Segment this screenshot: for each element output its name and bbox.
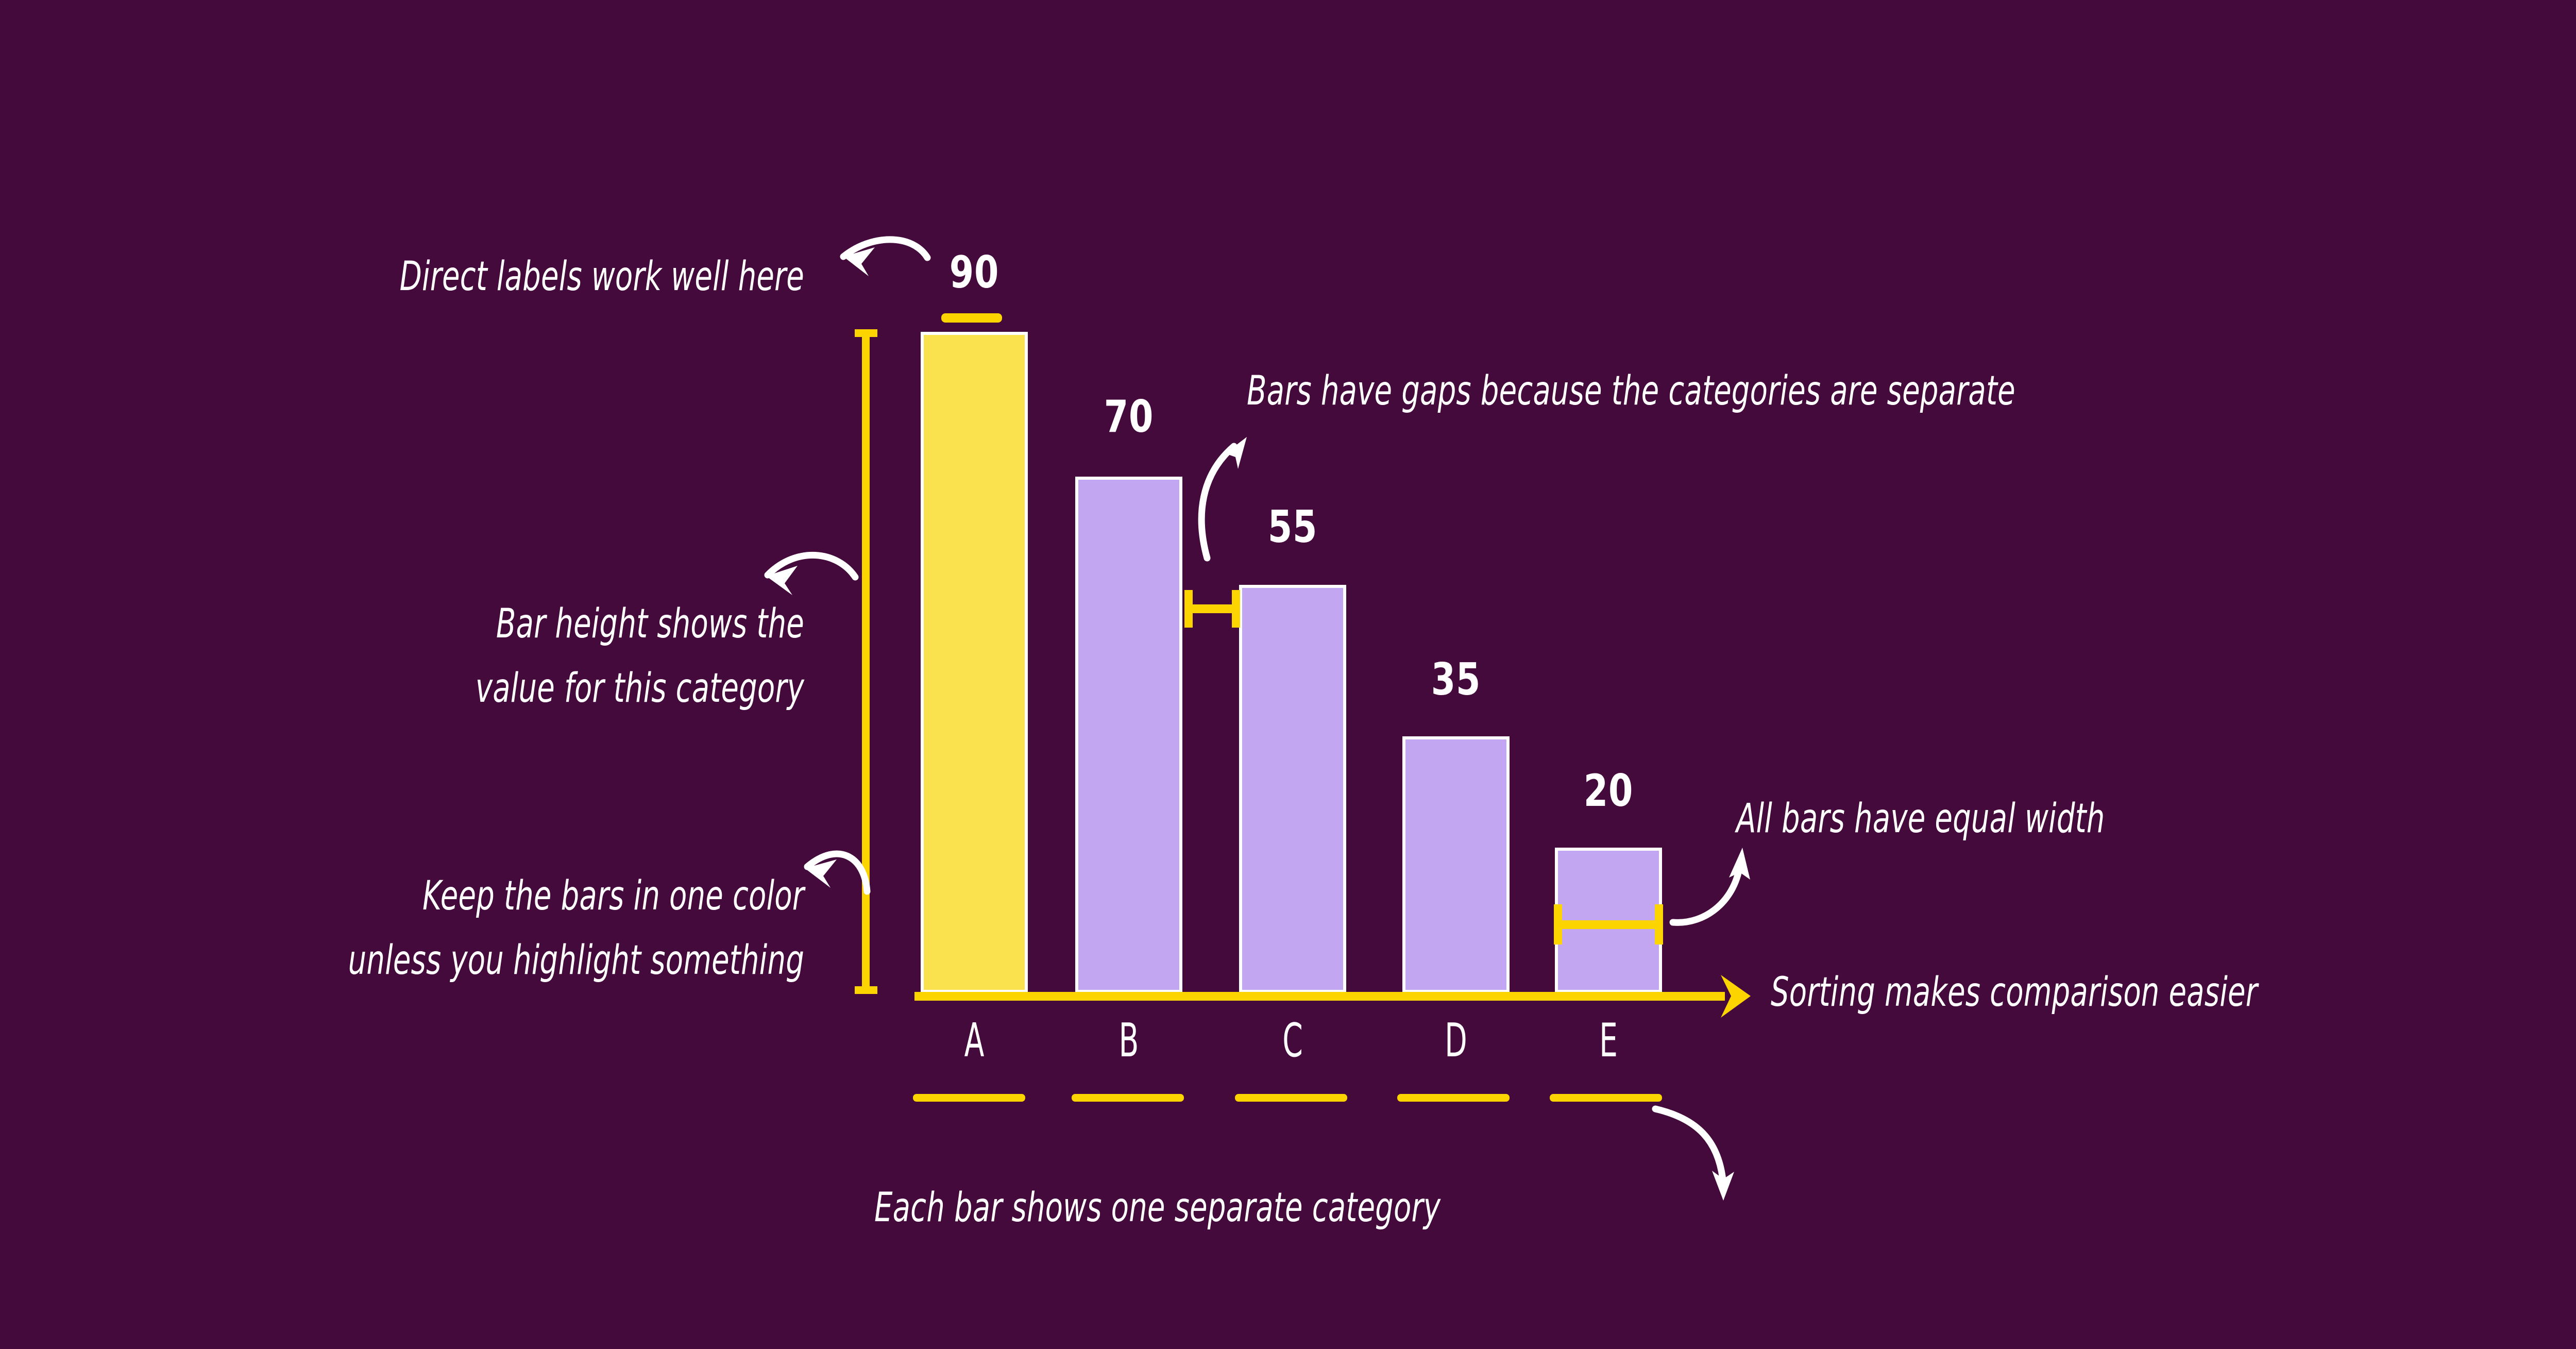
value-label-B: 70 <box>1083 395 1174 439</box>
gap-marker-cap-left <box>1184 590 1193 628</box>
annotation-equal-width: All bars have equal width <box>1736 794 2561 845</box>
annotation-one-color-line2: unless you highlight something <box>186 935 804 987</box>
arrow-equal-width <box>1673 848 1750 922</box>
category-underline-D <box>1397 1094 1510 1102</box>
annotation-bars-have-gaps: Bars have gaps because the categories ar… <box>1247 366 2566 417</box>
value-label-underline-A <box>941 313 1002 323</box>
category-underline-C <box>1235 1094 1347 1102</box>
x-axis-arrowhead <box>1721 975 1751 1018</box>
category-label-A: A <box>938 1018 1010 1064</box>
category-label-E: E <box>1572 1018 1645 1064</box>
category-label-B: B <box>1093 1018 1165 1064</box>
value-label-C: 55 <box>1247 505 1338 549</box>
category-label-C: C <box>1257 1018 1329 1064</box>
gap-marker-cap-right <box>1232 590 1240 628</box>
bar-C <box>1239 585 1346 993</box>
category-underline-E <box>1550 1094 1662 1102</box>
category-underline-A <box>913 1094 1025 1102</box>
annotation-one-color-line1: Keep the bars in one color <box>186 871 804 922</box>
arrow-one-color <box>805 854 867 891</box>
height-bracket-cap-top <box>855 329 877 337</box>
bar-D <box>1402 736 1510 993</box>
annotation-each-bar: Each bar shows one separate category <box>874 1183 1863 1234</box>
annotation-bar-height-line1: Bar height shows the <box>268 599 804 650</box>
bar-B <box>1075 477 1182 993</box>
arrow-bar-height <box>766 555 855 595</box>
bar-A <box>921 332 1028 993</box>
height-bracket-stem <box>862 329 870 994</box>
value-label-A: 90 <box>929 250 1020 295</box>
height-bracket-cap-bottom <box>855 986 877 994</box>
annotation-direct-labels: Direct labels work well here <box>310 251 804 303</box>
value-label-D: 35 <box>1411 657 1501 702</box>
annotation-sorting: Sorting makes comparison easier <box>1771 967 2576 1019</box>
annotation-bar-height-line2: value for this category <box>268 663 804 715</box>
width-marker-rail <box>1556 920 1662 929</box>
width-marker-cap-right <box>1655 904 1663 945</box>
width-marker-cap-left <box>1554 904 1562 945</box>
arrow-bars-have-gaps <box>1201 437 1247 558</box>
arrow-direct-labels <box>843 240 927 276</box>
x-axis-line <box>914 992 1725 1001</box>
category-underline-B <box>1072 1094 1184 1102</box>
bar-chart-infographic: 90 70 55 35 20 A B C D E Direct labels w… <box>0 0 2576 1349</box>
value-label-E: 20 <box>1563 769 1654 813</box>
category-label-D: D <box>1420 1018 1492 1064</box>
